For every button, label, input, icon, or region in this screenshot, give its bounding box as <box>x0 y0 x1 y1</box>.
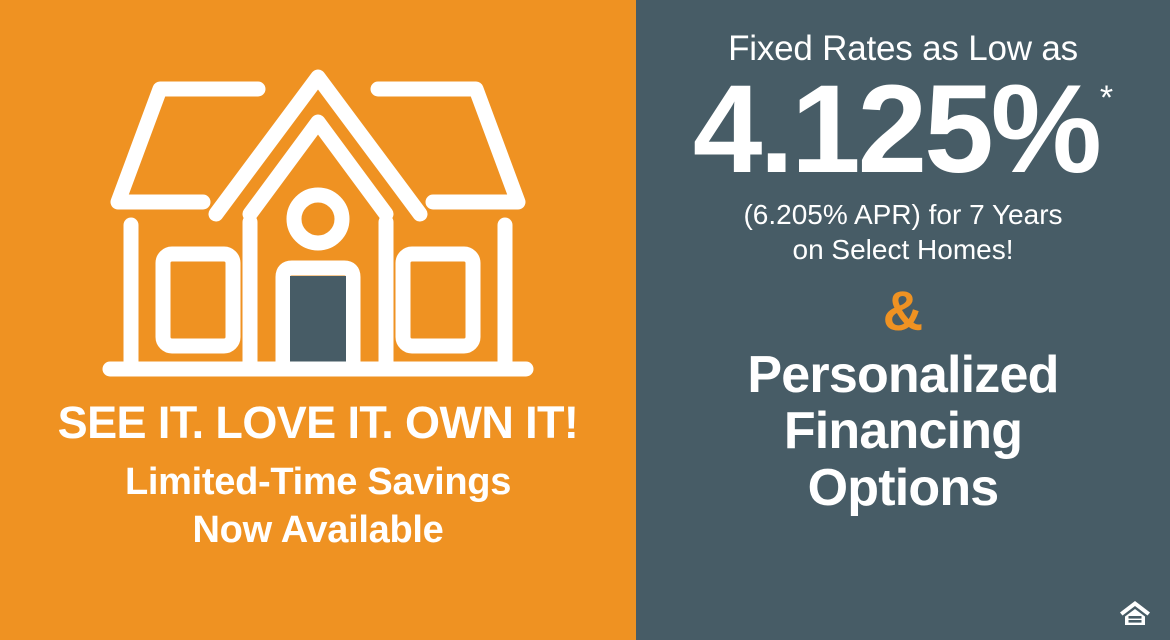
apr-line-1: (6.205% APR) for 7 Years <box>743 197 1062 232</box>
offer-line-3: Options <box>747 460 1058 516</box>
house-icon <box>98 62 538 392</box>
offer-line-2: Financing <box>747 403 1058 459</box>
left-text-block: SEE IT. LOVE IT. OWN IT! Limited-Time Sa… <box>0 400 636 554</box>
right-panel: Fixed Rates as Low as 4.125% * (6.205% A… <box>636 0 1170 640</box>
rate-display: 4.125% * <box>693 71 1113 190</box>
equal-housing-opportunity-icon <box>1118 598 1152 628</box>
offer-line-1: Personalized <box>747 347 1058 403</box>
apr-line-2: on Select Homes! <box>793 232 1014 267</box>
left-panel: SEE IT. LOVE IT. OWN IT! Limited-Time Sa… <box>0 0 636 640</box>
promo-banner: SEE IT. LOVE IT. OWN IT! Limited-Time Sa… <box>0 0 1170 640</box>
left-headline: SEE IT. LOVE IT. OWN IT! <box>0 400 636 445</box>
ampersand-separator: & <box>883 283 923 339</box>
left-subline-1: Limited-Time Savings <box>0 459 636 507</box>
offer-headline: Personalized Financing Options <box>747 347 1058 515</box>
rate-footnote-marker: * <box>1100 81 1113 115</box>
left-subline-2: Now Available <box>0 507 636 555</box>
rate-value: 4.125% <box>693 71 1099 190</box>
